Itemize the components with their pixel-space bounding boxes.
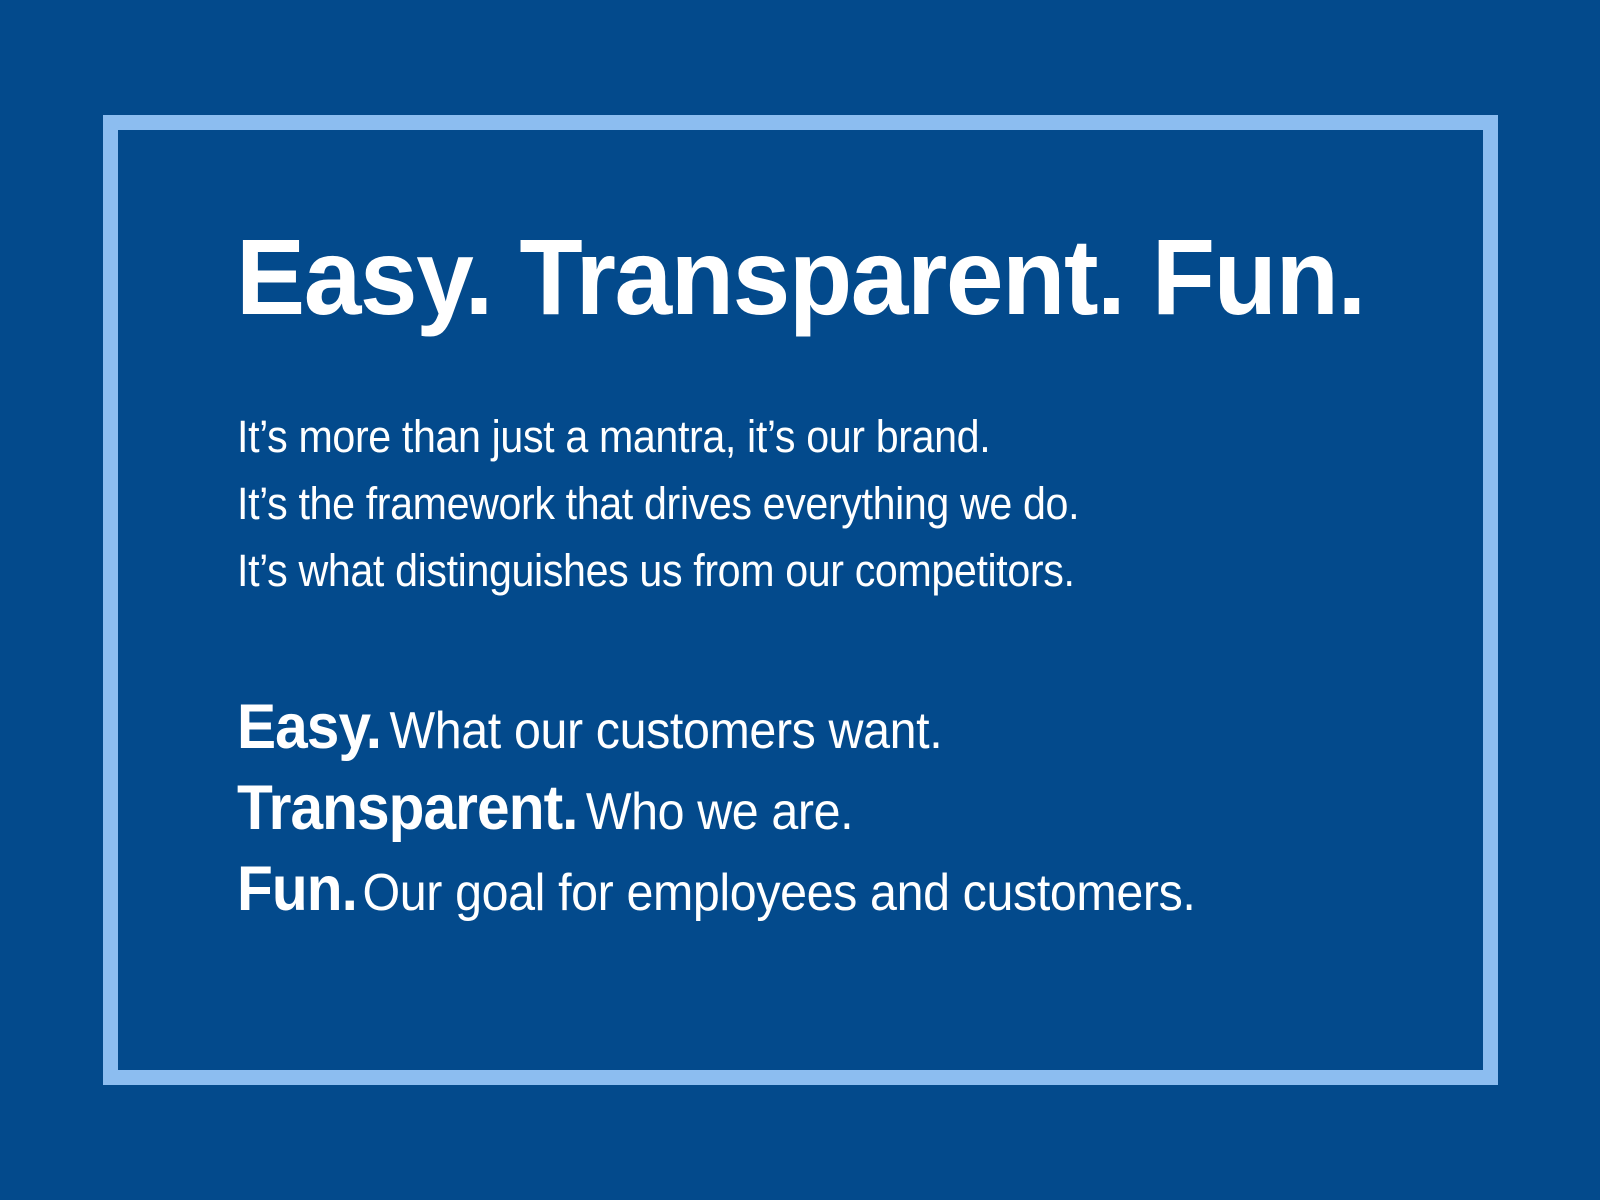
value-text-transparent: Who we are.: [577, 783, 853, 841]
value-text-easy: What our customers want.: [381, 702, 942, 760]
intro-line-3: It’s what distinguishes us from our comp…: [237, 537, 1079, 604]
value-statement-list: Easy.What our customers want. Transparen…: [237, 687, 1268, 930]
page-title: Easy. Transparent. Fun.: [236, 223, 1365, 331]
value-text-fun: Our goal for employees and customers.: [357, 864, 1196, 922]
intro-paragraph: It’s more than just a mantra, it’s our b…: [237, 403, 1079, 604]
intro-line-1: It’s more than just a mantra, it’s our b…: [237, 403, 1079, 470]
value-lead-transparent: Transparent.: [237, 773, 577, 843]
value-item-fun: Fun.Our goal for employees and customers…: [237, 849, 1195, 930]
value-lead-fun: Fun.: [237, 854, 357, 924]
slide-content: Easy. Transparent. Fun. It’s more than j…: [236, 115, 1416, 1085]
value-lead-easy: Easy.: [237, 692, 381, 762]
value-item-easy: Easy.What our customers want.: [237, 687, 1195, 768]
slide-canvas: Easy. Transparent. Fun. It’s more than j…: [0, 0, 1600, 1200]
intro-line-2: It’s the framework that drives everythin…: [237, 470, 1079, 537]
value-item-transparent: Transparent.Who we are.: [237, 768, 1195, 849]
